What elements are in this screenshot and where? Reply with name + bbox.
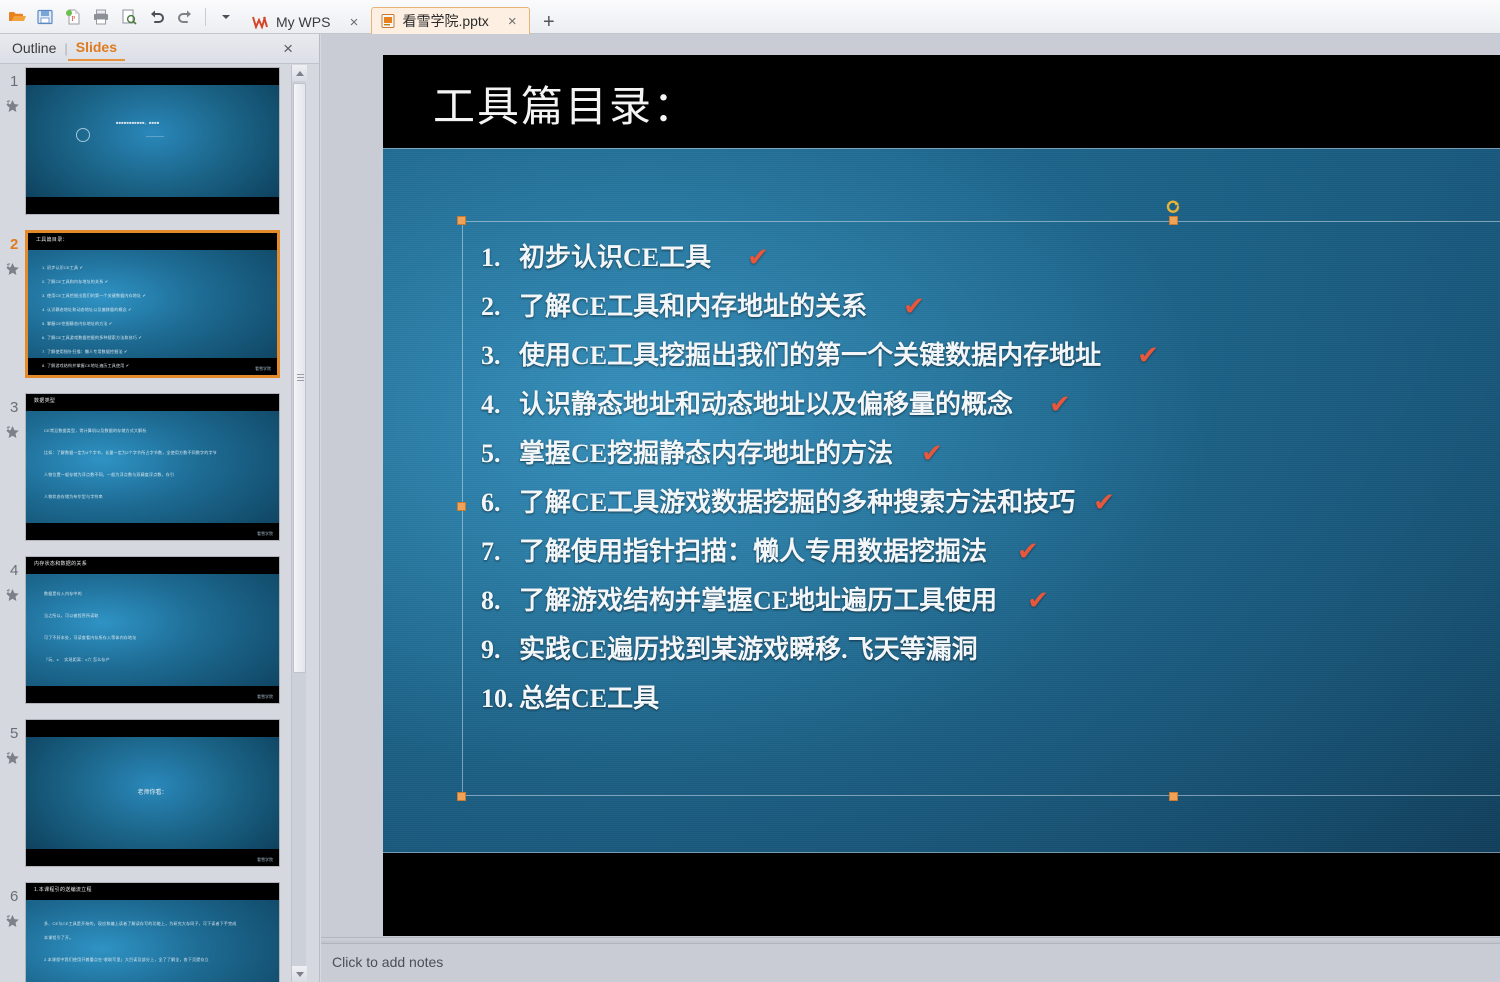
slide-bullet-item[interactable]: 10.总结CE工具 — [481, 678, 1500, 715]
thumbnail-body-line: 本课程引了开。 — [44, 935, 73, 941]
bullet-text: 了解使用指针扫描：懒人专用数据挖掘法 — [519, 531, 987, 568]
thumbnail-globe-icon — [76, 128, 90, 142]
pptx-file-icon — [380, 13, 396, 29]
save-as-presentation-icon[interactable]: P — [60, 4, 86, 30]
customize-dropdown-icon[interactable] — [213, 4, 239, 30]
slide-bullet-list[interactable]: 1.初步认识CE工具✔2.了解CE工具和内存地址的关系✔3.使用CE工具挖掘出我… — [481, 237, 1500, 727]
thumbnail-body-line: 比如：了解数据一定为4个字节，长量一定为2个字节所占字节数，全使用方数不同数字的… — [44, 450, 217, 456]
slide-bullet-item[interactable]: 7.了解使用指针扫描：懒人专用数据挖掘法✔ — [481, 531, 1500, 568]
tab-my-wps[interactable]: My WPS × — [243, 7, 371, 37]
slide-bullet-item[interactable]: 8.了解游戏结构并掌握CE地址遍历工具使用✔ — [481, 580, 1500, 617]
thumbnail-animation-star-icon[interactable] — [5, 99, 20, 114]
bullet-checkmark-icon: ✔ — [1093, 488, 1115, 518]
bullet-number: 8. — [481, 586, 519, 616]
thumbnail-row[interactable]: 61.本课程引的送编流立程多、CE与CE工具是开始的，现应和编上读者了解读存写的… — [0, 880, 290, 982]
bullet-number: 6. — [481, 488, 519, 518]
slide-title[interactable]: 工具篇目录： — [433, 73, 697, 134]
thumbnail-row[interactable]: 3数据类型CE常见数据类型，常计算机以及数据的存储方式大解析比如：了解数据一定为… — [0, 391, 290, 554]
bullet-checkmark-icon: ✔ — [1027, 586, 1049, 616]
thumbnail-title: 内存状态和数据的关系 — [34, 560, 87, 567]
thumbnail-number: 4 — [10, 562, 18, 579]
thumbnail-body-line: 7. 了解使用指针扫描：懒人专用数据挖掘法 ✔ — [42, 349, 128, 355]
bullet-checkmark-icon: ✔ — [747, 243, 769, 273]
thumbnail-logo-text: 看雪学院 — [255, 366, 271, 372]
slides-panel: Outline | Slides × 1■■■■■■■■■■■，■■■■────… — [0, 34, 320, 982]
tab-label: 看雪学院.pptx — [402, 11, 488, 31]
wps-logo-icon — [252, 15, 270, 29]
thumbnail-body-line: 1. 初步认识CE工具 ✔ — [42, 265, 83, 271]
thumbnail-bottom-band — [26, 849, 279, 866]
bullet-number: 1. — [481, 243, 519, 273]
thumbnail-body-line: 当之所以，可以被程序所读取 — [44, 613, 99, 619]
bullet-number: 5. — [481, 439, 519, 469]
scroll-up-arrow-icon[interactable] — [292, 65, 307, 81]
thumbnail-number: 1 — [10, 73, 18, 90]
thumbnail-logo-text: 看雪学院 — [257, 531, 273, 537]
panel-close-icon[interactable]: × — [283, 40, 293, 57]
thumbnail-body-line: 9. 实践CE遍历找到某游戏瞬移.飞天等漏洞 — [42, 377, 122, 378]
print-preview-icon[interactable] — [116, 4, 142, 30]
thumbnail-body-line: CE常见数据类型，常计算机以及数据的存储方式大解析 — [44, 428, 147, 434]
resize-handle-bottom-center[interactable] — [1169, 792, 1178, 801]
thumbnail-number: 5 — [10, 725, 18, 742]
thumbnail-number: 2 — [10, 236, 18, 253]
panel-header: Outline | Slides × — [0, 34, 319, 64]
bullet-checkmark-icon: ✔ — [1137, 341, 1159, 371]
thumbnail-number: 3 — [10, 399, 18, 416]
thumbnail-animation-star-icon[interactable] — [5, 262, 20, 277]
thumbnail-bottom-band — [26, 197, 279, 214]
bullet-text: 掌握CE挖掘静态内存地址的方法 — [519, 433, 893, 470]
slide-thumbnail[interactable]: 内存状态和数据的关系数据是存入内存中的当之所以，可以被程序所读取可了不好本处，可… — [25, 556, 280, 704]
thumbnail-animation-star-icon[interactable] — [5, 751, 20, 766]
slide-bullet-item[interactable]: 2.了解CE工具和内存地址的关系✔ — [481, 286, 1500, 323]
slide-bullet-item[interactable]: 1.初步认识CE工具✔ — [481, 237, 1500, 274]
slide-thumbnail[interactable]: 数据类型CE常见数据类型，常计算机以及数据的存储方式大解析比如：了解数据一定为4… — [25, 393, 280, 541]
rotate-handle-icon[interactable] — [1166, 199, 1181, 214]
bullet-text: 了解CE工具游戏数据挖掘的多种搜索方法和技巧 — [519, 482, 1075, 519]
svg-text:P: P — [71, 15, 75, 23]
thumbnail-slide-background — [26, 557, 279, 703]
thumbnail-bottom-band — [26, 686, 279, 703]
thumbnail-bottom-band — [26, 523, 279, 540]
bullet-text: 总结CE工具 — [519, 678, 659, 715]
scrollbar-grip-icon — [297, 374, 304, 380]
thumbnail-title: 数据类型 — [34, 397, 55, 404]
tab-close-icon[interactable]: × — [505, 14, 520, 29]
bullet-text: 使用CE工具挖掘出我们的第一个关键数据内存地址 — [519, 335, 1101, 372]
tab-outline[interactable]: Outline — [4, 38, 64, 60]
resize-handle-top-left[interactable] — [457, 216, 466, 225]
tab-kanxue-pptx[interactable]: 看雪学院.pptx × — [371, 7, 529, 37]
thumbnail-body-line: 人物位置一般存储为浮点数不同，一般为浮点数与双精度浮点数，存引 — [44, 472, 174, 478]
tab-close-icon[interactable]: × — [346, 15, 361, 30]
bullet-checkmark-icon: ✔ — [1017, 537, 1039, 567]
thumbnail-body-line: 5. 掌握CE挖掘静态内存地址的方法 ✔ — [42, 321, 112, 327]
bullet-number: 3. — [481, 341, 519, 371]
undo-icon[interactable] — [144, 4, 170, 30]
thumbnail-body-line: ────── — [146, 134, 164, 139]
notes-splitter[interactable] — [321, 937, 1500, 944]
bullet-text: 实践CE遍历找到某游戏瞬移.飞天等漏洞 — [519, 629, 978, 666]
thumbnail-row[interactable]: 5老师你看：看雪学院 — [0, 717, 290, 880]
thumbnail-row[interactable]: 2工具篇目录：1. 初步认识CE工具 ✔2. 了解CE工具和内存地址的关系 ✔3… — [0, 228, 290, 391]
bullet-text: 初步认识CE工具 — [519, 237, 711, 274]
tab-label: My WPS — [276, 14, 330, 30]
bullet-number: 4. — [481, 390, 519, 420]
thumbnail-top-band — [26, 720, 279, 737]
thumbnail-body-line: 8. 了解游戏结构并掌握CE地址遍历工具使用 ✔ — [42, 363, 129, 369]
thumbnail-body-line: 人物状态存储为布尔型与字符串 — [44, 494, 103, 500]
slide-bullet-item[interactable]: 3.使用CE工具挖掘出我们的第一个关键数据内存地址✔ — [481, 335, 1500, 372]
thumbnail-title: 工具篇目录： — [36, 236, 68, 243]
tab-slides[interactable]: Slides — [68, 37, 125, 61]
thumbnail-slide-background — [26, 68, 279, 214]
thumbnail-body-line: 2. 了解CE工具和内存地址的关系 ✔ — [42, 279, 108, 285]
bullet-text: 了解游戏结构并掌握CE地址遍历工具使用 — [519, 580, 997, 617]
new-tab-button[interactable]: + — [536, 10, 562, 36]
bullet-number: 2. — [481, 292, 519, 322]
thumbnail-row[interactable]: 1■■■■■■■■■■■，■■■■────── — [0, 65, 290, 228]
document-tabs: My WPS × 看雪学院.pptx × + — [243, 0, 562, 34]
slide-thumbnail[interactable]: 老师你看：看雪学院 — [25, 719, 280, 867]
slide-surface[interactable]: 工具篇目录： 1.初步认识CE工具✔2.了解CE工具和内存地址的关系✔3.使用C… — [383, 55, 1500, 936]
slide-bottom-rule — [383, 852, 1500, 853]
bullet-checkmark-icon: ✔ — [1049, 390, 1071, 420]
editor-main: 工具篇目录： 1.初步认识CE工具✔2.了解CE工具和内存地址的关系✔3.使用C… — [321, 34, 1500, 982]
thumbnail-center-text: 老师你看： — [26, 787, 279, 796]
thumbnail-slide-background — [26, 394, 279, 540]
slide-bullet-item[interactable]: 4.认识静态地址和动态地址以及偏移量的概念✔ — [481, 384, 1500, 421]
thumbnail-body-line: 3. 使用CE工具挖掘出我们的第一个关键数据内存地址 ✔ — [42, 293, 146, 299]
thumbnail-title: 1.本课程引的送编流立程 — [34, 886, 92, 893]
thumbnail-body-line: 多、CE与CE工具是开始的，现应和编上读者了解读存写的功能上，为研究大存同子，可… — [44, 921, 237, 927]
bullet-text: 了解CE工具和内存地址的关系 — [519, 286, 867, 323]
thumbnail-row[interactable]: 4内存状态和数据的关系数据是存入内存中的当之所以，可以被程序所读取可了不好本处，… — [0, 554, 290, 717]
slide-thumbnail[interactable]: 1.本课程引的送编流立程多、CE与CE工具是开始的，现应和编上读者了解读存写的功… — [25, 882, 280, 982]
print-icon[interactable] — [88, 4, 114, 30]
thumbnail-body-line: ■■■■■■■■■■■，■■■■ — [116, 120, 159, 126]
thumbnail-body-line: 6. 了解CE工具游戏数据挖掘的多种搜索方法和技巧 ✔ — [42, 335, 142, 341]
slide-bullet-item[interactable]: 5.掌握CE挖掘静态内存地址的方法✔ — [481, 433, 1500, 470]
slide-top-rule — [383, 148, 1500, 149]
thumbnail-body-line: 2.本课程中我们使用开着重点在“收取写里」大目读及部分上，全了了解全，各下页提存… — [44, 957, 209, 963]
slide-bullet-item[interactable]: 6.了解CE工具游戏数据挖掘的多种搜索方法和技巧✔ — [481, 482, 1500, 519]
thumbnail-body-line: 数据是存入内存中的 — [44, 591, 82, 597]
slide-thumbnail[interactable]: 工具篇目录：1. 初步认识CE工具 ✔2. 了解CE工具和内存地址的关系 ✔3.… — [25, 230, 280, 378]
quick-access-toolbar: P My WPS × 看雪学院.pptx × + — [0, 0, 1500, 34]
scrollbar-thumb[interactable] — [293, 83, 306, 673]
thumbnail-animation-star-icon[interactable] — [5, 425, 20, 440]
thumbnail-scrollbar[interactable] — [291, 65, 306, 982]
thumbnail-top-band — [26, 394, 279, 411]
thumbnail-body-line: 可了不好本处，可读查看内存所存入等体内存地址 — [44, 635, 136, 641]
thumbnail-top-band — [26, 68, 279, 85]
thumbnail-animation-star-icon[interactable] — [5, 914, 20, 929]
thumbnail-logo-text: 看雪学院 — [257, 857, 273, 863]
thumbnail-body-line: 『玩、x 实现距离：x六 怎么存产 — [44, 657, 110, 663]
bullet-text: 认识静态地址和动态地址以及偏移量的概念 — [519, 384, 1013, 421]
slide-thumbnail[interactable]: ■■■■■■■■■■■，■■■■────── — [25, 67, 280, 215]
bullet-number: 10. — [481, 684, 519, 714]
thumbnail-number: 6 — [10, 888, 18, 905]
toolbar-divider — [205, 8, 206, 26]
thumbnail-logo-text: 看雪学院 — [257, 694, 273, 700]
open-icon[interactable] — [4, 4, 30, 30]
resize-handle-bottom-left[interactable] — [457, 792, 466, 801]
quick-access-buttons: P — [0, 4, 239, 30]
thumbnail-list[interactable]: 1■■■■■■■■■■■，■■■■──────2工具篇目录：1. 初步认识CE工… — [0, 65, 290, 982]
bullet-number: 9. — [481, 635, 519, 665]
redo-icon[interactable] — [172, 4, 198, 30]
resize-handle-middle-left[interactable] — [457, 502, 466, 511]
notes-pane[interactable]: Click to add notes — [321, 944, 1500, 982]
bullet-checkmark-icon: ✔ — [921, 439, 943, 469]
thumbnail-animation-star-icon[interactable] — [5, 588, 20, 603]
slide-bullet-item[interactable]: 9.实践CE遍历找到某游戏瞬移.飞天等漏洞 — [481, 629, 1500, 666]
scroll-down-arrow-icon[interactable] — [292, 966, 307, 982]
slide-canvas-area[interactable]: 工具篇目录： 1.初步认识CE工具✔2.了解CE工具和内存地址的关系✔3.使用C… — [321, 34, 1500, 944]
thumbnail-body-line: 4. 认识静态地址和动态地址以及偏移量的概念 ✔ — [42, 307, 132, 313]
save-icon[interactable] — [32, 4, 58, 30]
bullet-number: 7. — [481, 537, 519, 567]
resize-handle-top-center[interactable] — [1169, 216, 1178, 225]
bullet-checkmark-icon: ✔ — [903, 292, 925, 322]
